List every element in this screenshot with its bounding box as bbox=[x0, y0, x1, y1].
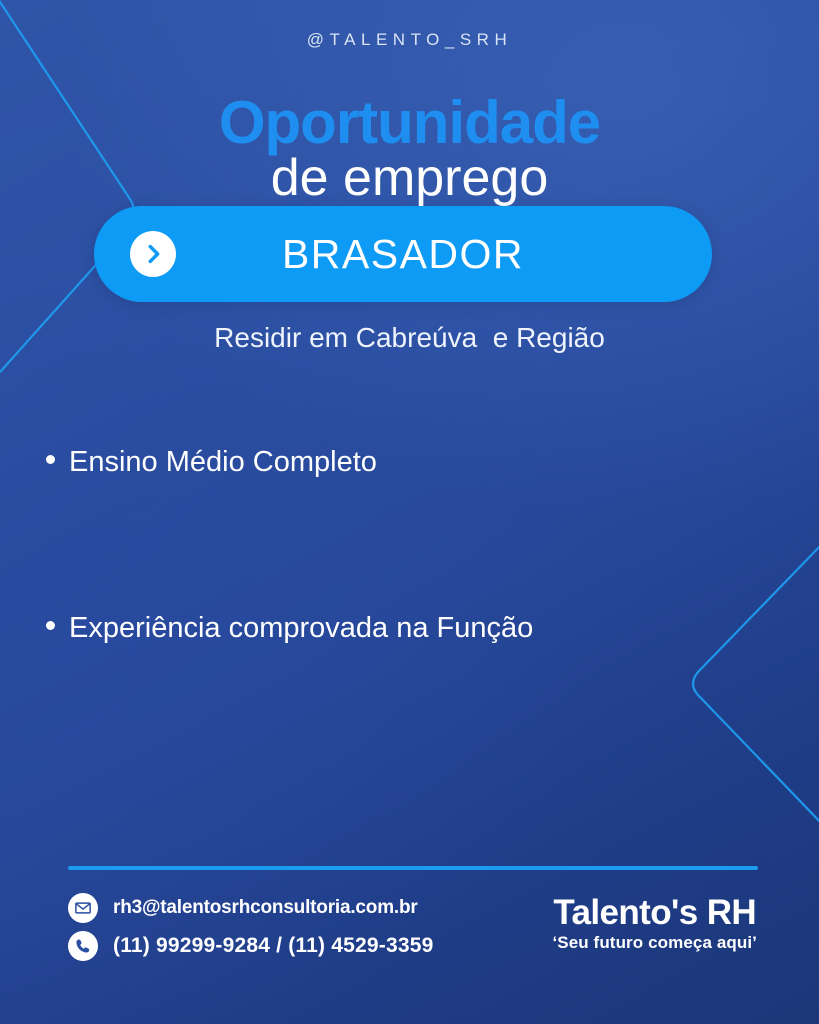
envelope-icon bbox=[68, 893, 98, 923]
location-requirement: Residir em Cabreúva e Região bbox=[0, 322, 819, 354]
requirement-item: Experiência comprovada na Função bbox=[46, 612, 533, 645]
footer: rh3@talentosrhconsultoria.com.br (11) 99… bbox=[0, 893, 819, 973]
right-chevron-line bbox=[693, 540, 819, 828]
contact-phone-row[interactable]: (11) 99299-9284 / (11) 4529-3359 bbox=[68, 931, 433, 961]
social-handle: @TALENTO_SRH bbox=[0, 30, 819, 50]
role-pill[interactable]: BRASADOR bbox=[94, 206, 712, 302]
role-title: BRASADOR bbox=[176, 231, 630, 278]
bullet-icon bbox=[46, 455, 55, 464]
footer-divider bbox=[68, 866, 758, 870]
contact-block: rh3@talentosrhconsultoria.com.br (11) 99… bbox=[68, 893, 433, 969]
logo-tagline: ‘Seu futuro começa aqui’ bbox=[552, 933, 757, 953]
contact-email-row[interactable]: rh3@talentosrhconsultoria.com.br bbox=[68, 893, 433, 923]
email-address: rh3@talentosrhconsultoria.com.br bbox=[113, 897, 418, 919]
requirement-item: Ensino Médio Completo bbox=[46, 446, 377, 479]
requirement-text: Ensino Médio Completo bbox=[69, 446, 377, 479]
job-posting-poster: @TALENTO_SRH Oportunidade de emprego BRA… bbox=[0, 0, 819, 1024]
company-logo: Talento's RH ‘Seu futuro começa aqui’ bbox=[552, 895, 757, 953]
phone-numbers: (11) 99299-9284 / (11) 4529-3359 bbox=[113, 934, 433, 958]
page-title-primary: Oportunidade bbox=[0, 93, 819, 153]
chevron-right-icon bbox=[130, 231, 176, 277]
page-title-secondary: de emprego bbox=[0, 152, 819, 204]
requirement-text: Experiência comprovada na Função bbox=[69, 612, 533, 645]
phone-icon bbox=[68, 931, 98, 961]
logo-company-name: Talento's RH bbox=[552, 895, 757, 932]
bullet-icon bbox=[46, 621, 55, 630]
